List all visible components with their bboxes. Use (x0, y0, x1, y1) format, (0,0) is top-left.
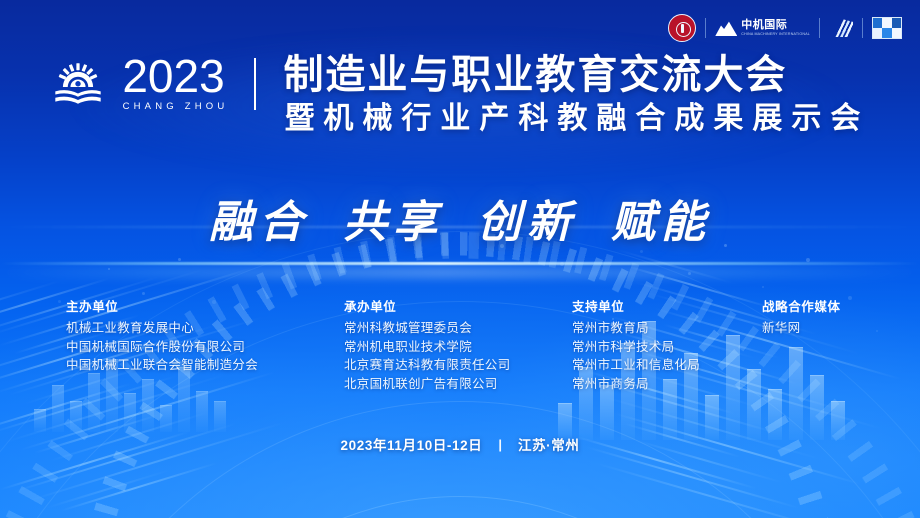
organization-item: 机械工业教育发展中心 (66, 319, 344, 338)
organization-heading: 主办单位 (66, 296, 344, 315)
organization-item: 北京国机联创广告有限公司 (344, 375, 572, 394)
organization-item: 常州市科学技术局 (572, 338, 762, 357)
organization-item: 新华网 (762, 319, 841, 338)
light-beam-glow-decoration (0, 268, 920, 277)
sponsor-divider (819, 18, 820, 38)
sponsor-logo-3[interactable] (829, 19, 853, 37)
organization-column-2: 承办单位常州科教城管理委员会常州机电职业技术学院北京赛育达科教有限责任公司北京国… (344, 296, 572, 393)
sponsor-2-name-en: CHINA MACHINERY INTERNATIONAL (741, 33, 810, 37)
sponsor-logo-strip: 中机国际 CHINA MACHINERY INTERNATIONAL (668, 14, 902, 42)
slogan-word-1: 融合 (209, 197, 309, 248)
year-text: 2023 (122, 55, 224, 97)
organization-item: 常州科教城管理委员会 (344, 319, 572, 338)
mountain-mark-icon (715, 20, 737, 36)
organization-item: 北京赛育达科教有限责任公司 (344, 356, 572, 375)
organization-heading: 战略合作媒体 (762, 296, 841, 315)
organization-column-1: 主办单位机械工业教育发展中心中国机械国际合作股份有限公司中国机械工业联合会智能制… (66, 296, 344, 393)
year-block: 2023 CHANG ZHOU (119, 55, 241, 112)
sponsor-logo-2[interactable]: 中机国际 CHINA MACHINERY INTERNATIONAL (715, 20, 810, 37)
page-title-line1: 制造业与职业教育交流大会 (283, 54, 869, 96)
organization-item: 常州机电职业技术学院 (344, 338, 572, 357)
city-english-text: CHANG ZHOU (119, 101, 229, 112)
sponsor-2-name-cn: 中机国际 (741, 20, 810, 31)
light-beam-decoration (0, 262, 920, 265)
organization-item: 常州市教育局 (572, 319, 762, 338)
page-title-line2: 暨机械行业产科教融合成果展示会 (283, 102, 869, 135)
organization-heading: 支持单位 (572, 296, 762, 315)
sponsor-logo-4[interactable] (872, 17, 902, 39)
footer-info: 2023年11月10日-12日 | 江苏·常州 (0, 434, 920, 454)
sponsor-logo-1[interactable] (668, 14, 696, 42)
organization-item: 常州市商务局 (572, 375, 762, 394)
organization-column-4: 战略合作媒体新华网 (762, 296, 841, 393)
conference-banner: 中机国际 CHINA MACHINERY INTERNATIONAL (0, 0, 920, 518)
organization-item: 常州市工业和信息化局 (572, 356, 762, 375)
organizations-block: 主办单位机械工业教育发展中心中国机械国际合作股份有限公司中国机械工业联合会智能制… (66, 296, 880, 393)
changzhou-gear-sunrise-book-logo-icon (51, 60, 105, 114)
masthead-divider (254, 58, 256, 110)
sponsor-divider (705, 18, 706, 38)
event-location: 江苏·常州 (518, 434, 580, 454)
event-date: 2023年11月10日-12日 (341, 434, 483, 454)
organization-item: 中国机械工业联合会智能制造分会 (66, 356, 344, 375)
tile-mark-icon (872, 17, 902, 39)
slogan-word-4: 赋能 (611, 197, 711, 248)
organization-heading: 承办单位 (344, 296, 572, 315)
title-group: 制造业与职业教育交流大会 暨机械行业产科教融合成果展示会 (283, 54, 869, 135)
footer-separator: | (498, 437, 502, 452)
slogan: 融合共享创新赋能 (0, 186, 920, 250)
circular-red-seal-icon (668, 14, 696, 42)
organization-column-3: 支持单位常州市教育局常州市科学技术局常州市工业和信息化局常州市商务局 (572, 296, 762, 393)
sponsor-divider (862, 18, 863, 38)
organization-item: 中国机械国际合作股份有限公司 (66, 338, 344, 357)
masthead: 2023 CHANG ZHOU 制造业与职业教育交流大会 暨机械行业产科教融合成… (0, 54, 920, 135)
wave-mark-icon (829, 19, 853, 37)
slogan-word-2: 共享 (343, 197, 443, 248)
slogan-word-3: 创新 (477, 197, 577, 248)
